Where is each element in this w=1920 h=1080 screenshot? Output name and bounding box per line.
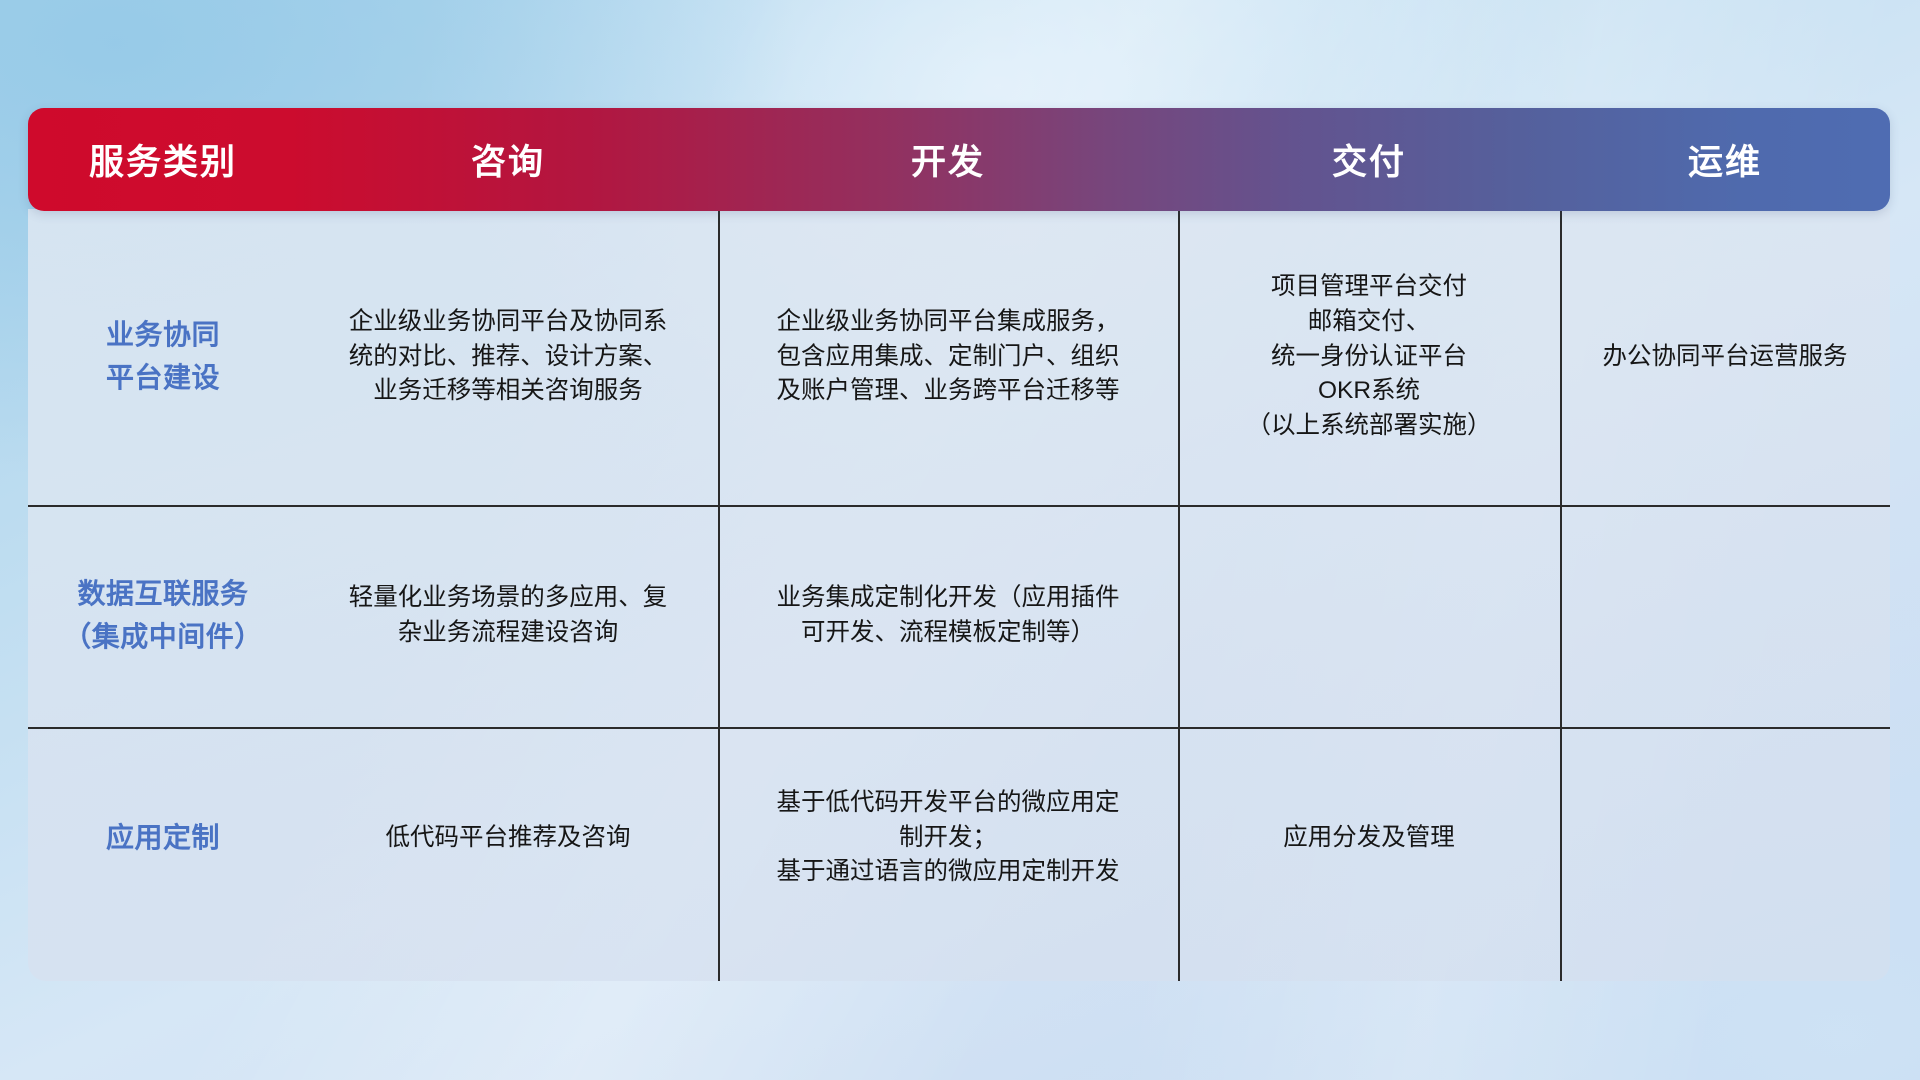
cell-delivery: 应用分发及管理	[1178, 727, 1560, 949]
table-row: 应用定制 低代码平台推荐及咨询 基于低代码开发平台的微应用定 制开发； 基于通过…	[28, 727, 1890, 949]
cell-development: 业务集成定制化开发（应用插件 可开发、流程模板定制等）	[718, 505, 1178, 727]
cell-operations	[1560, 727, 1890, 949]
column-header-label: 开发	[911, 134, 985, 185]
table-body: 业务协同 平台建设 企业级业务协同平台及协同系 统的对比、推荐、设计方案、 业务…	[28, 209, 1890, 981]
column-header-operations: 运维	[1560, 108, 1890, 211]
vertical-gridline	[718, 209, 720, 981]
cell-category: 应用定制	[28, 727, 298, 949]
vertical-gridline	[1560, 209, 1562, 981]
cell-development: 基于低代码开发平台的微应用定 制开发； 基于通过语言的微应用定制开发	[718, 727, 1178, 949]
cell-operations: 办公协同平台运营服务	[1560, 209, 1890, 505]
horizontal-gridline	[28, 505, 1890, 507]
vertical-gridline	[1178, 209, 1180, 981]
service-category-table: 服务类别 咨询 开发 交付 运维 业务协同 平台建设 企业级业务协同平台及协同系…	[28, 108, 1890, 981]
slide-canvas: 服务类别 咨询 开发 交付 运维 业务协同 平台建设 企业级业务协同平台及协同系…	[0, 0, 1920, 1080]
column-header-label: 咨询	[471, 134, 545, 185]
table-row: 数据互联服务 （集成中间件） 轻量化业务场景的多应用、复 杂业务流程建设咨询 业…	[28, 505, 1890, 727]
column-header-label: 运维	[1688, 134, 1762, 185]
column-header-delivery: 交付	[1178, 108, 1560, 211]
table-row: 业务协同 平台建设 企业级业务协同平台及协同系 统的对比、推荐、设计方案、 业务…	[28, 209, 1890, 505]
cell-consulting: 企业级业务协同平台及协同系 统的对比、推荐、设计方案、 业务迁移等相关咨询服务	[298, 209, 718, 505]
horizontal-gridline	[28, 727, 1890, 729]
cell-category: 数据互联服务 （集成中间件）	[28, 505, 298, 727]
cell-consulting: 轻量化业务场景的多应用、复 杂业务流程建设咨询	[298, 505, 718, 727]
cell-development: 企业级业务协同平台集成服务， 包含应用集成、定制门户、组织 及账户管理、业务跨平…	[718, 209, 1178, 505]
cell-delivery	[1178, 505, 1560, 727]
table-footer-pad	[28, 949, 1890, 981]
column-header-development: 开发	[718, 108, 1178, 211]
cell-delivery: 项目管理平台交付 邮箱交付、 统一身份认证平台 OKR系统 （以上系统部署实施）	[1178, 209, 1560, 505]
cell-consulting: 低代码平台推荐及咨询	[298, 727, 718, 949]
cell-category: 业务协同 平台建设	[28, 209, 298, 505]
table-header-row: 服务类别 咨询 开发 交付 运维	[28, 108, 1890, 211]
column-header-label: 服务类别	[89, 134, 237, 185]
column-header-category: 服务类别	[28, 108, 298, 211]
cell-operations	[1560, 505, 1890, 727]
column-header-consulting: 咨询	[298, 108, 718, 211]
column-header-label: 交付	[1332, 134, 1406, 185]
